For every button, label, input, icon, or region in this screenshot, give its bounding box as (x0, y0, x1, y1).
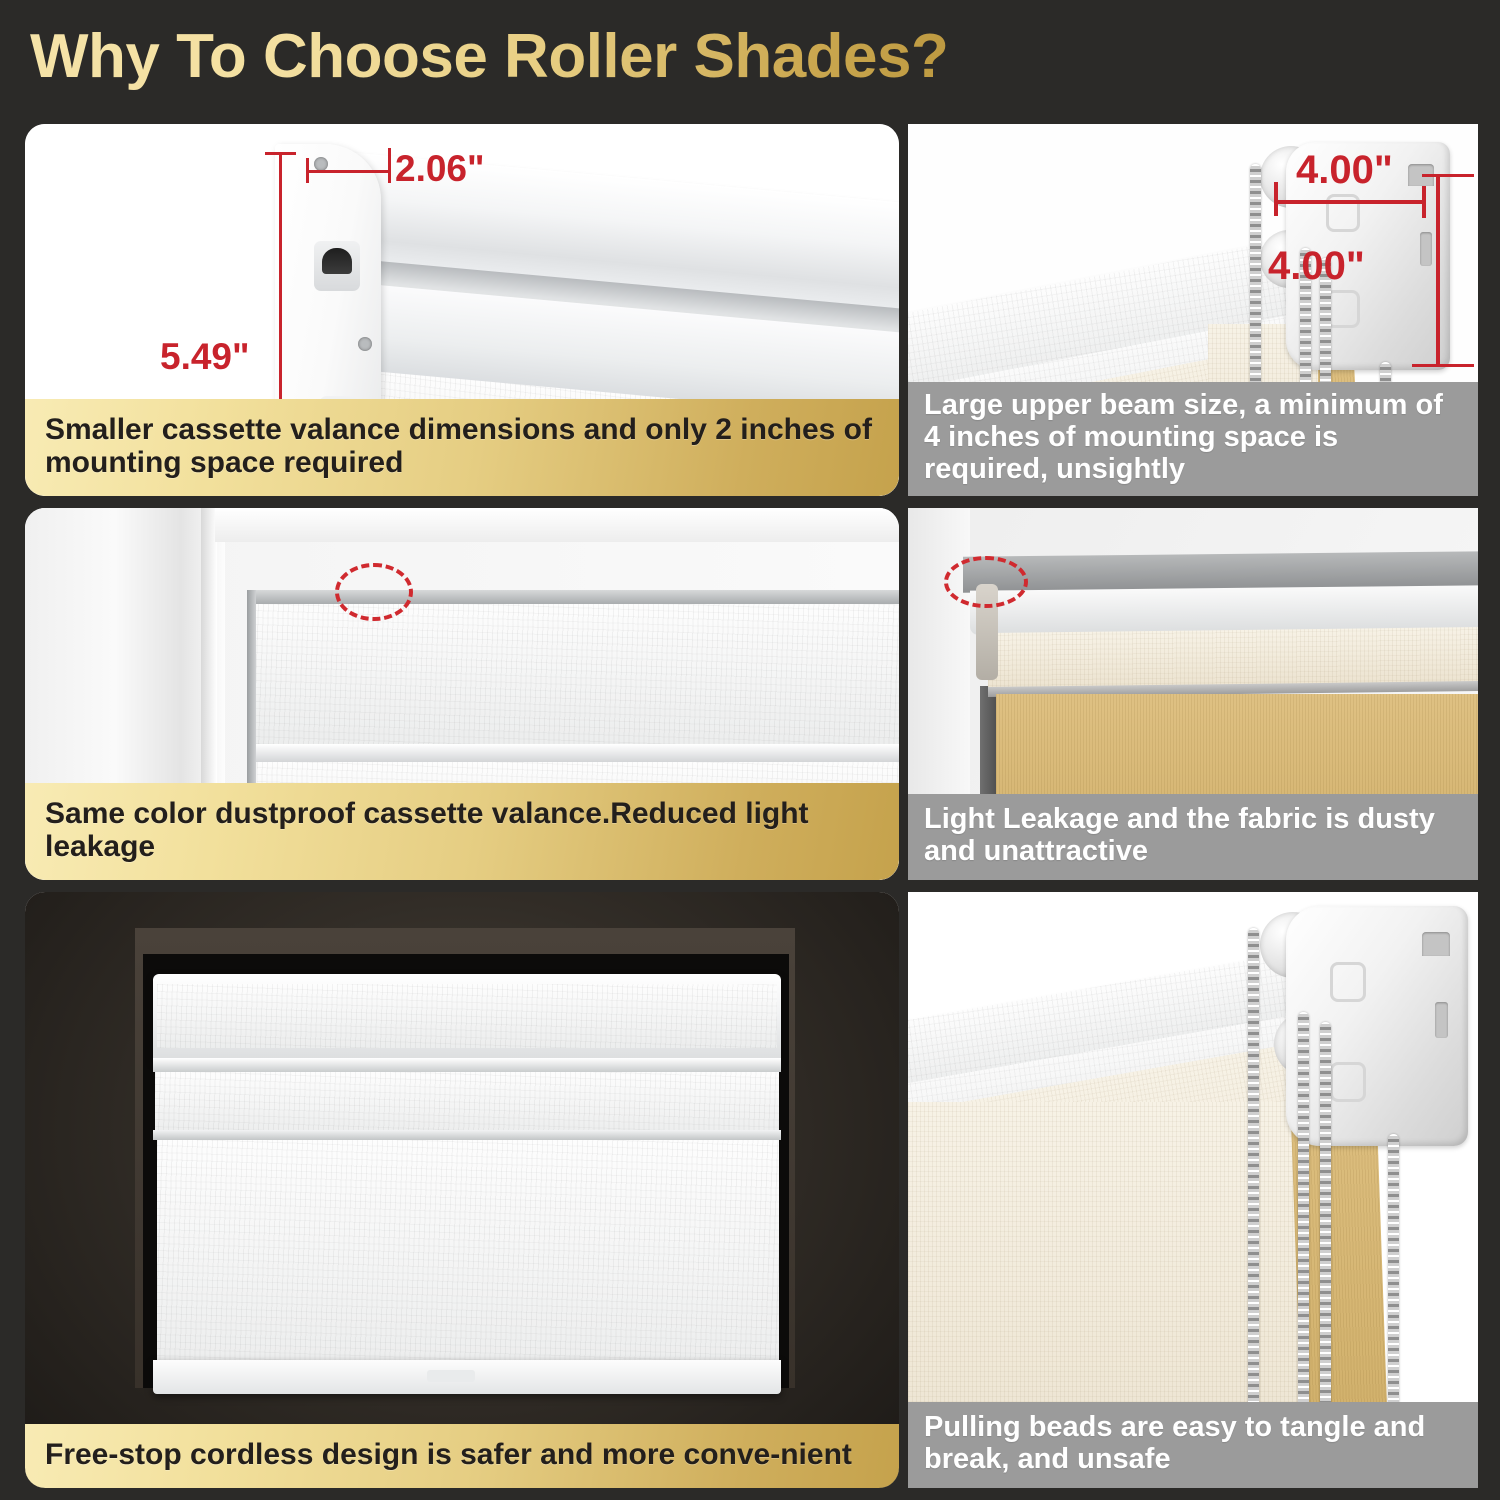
panel-top-left: 5.49" 2.06" Smaller cassette valance dim… (25, 124, 899, 496)
shade-fabric (157, 1140, 779, 1370)
highlight-circle (335, 563, 413, 621)
page-title: Why To Choose Roller Shades? (30, 21, 948, 92)
comparison-grid: 5.49" 2.06" Smaller cassette valance dim… (0, 112, 1500, 1500)
header: Why To Choose Roller Shades? (0, 0, 1500, 112)
cordless-window-scene-photo (25, 892, 899, 1488)
panel-middle-right: Large gap Light Leakage and the fabric i… (908, 508, 1478, 880)
bead-chain (1248, 928, 1259, 1483)
caption-top-right: Large upper beam size, a minimum of 4 in… (908, 382, 1478, 496)
width-dimension-label: 2.06" (395, 148, 485, 190)
panel-bottom-left: Free-stop cordless design is safer and m… (25, 892, 899, 1488)
panel-top-right: 4.00" 4.00" Large upper beam size, a min… (908, 124, 1478, 496)
panel-middle-left: smaller gap Same color dustproof cassett… (25, 508, 899, 880)
panel-bottom-right: Pulling beads are easy to tangle and bre… (908, 892, 1478, 1488)
height-dimension-label: 5.49" (160, 336, 250, 378)
caption-bottom-left: Free-stop cordless design is safer and m… (25, 1424, 899, 1488)
bead-chain-roller-photo (908, 892, 1478, 1488)
caption-top-left: Smaller cassette valance dimensions and … (25, 399, 899, 496)
caption-bottom-right: Pulling beads are easy to tangle and bre… (908, 1402, 1478, 1488)
width-dimension-label: 4.00" (1296, 148, 1393, 193)
height-dimension-label: 4.00" (1268, 244, 1365, 289)
caption-middle-left: Same color dustproof cassette valance.Re… (25, 783, 899, 880)
mounting-bracket (1286, 906, 1468, 1146)
highlight-circle (944, 556, 1028, 608)
width-dimension-line (1276, 200, 1426, 204)
width-dimension-line (306, 170, 391, 173)
height-dimension-line (279, 152, 282, 424)
height-dimension-line (1436, 176, 1440, 366)
caption-middle-right: Light Leakage and the fabric is dusty an… (908, 794, 1478, 880)
